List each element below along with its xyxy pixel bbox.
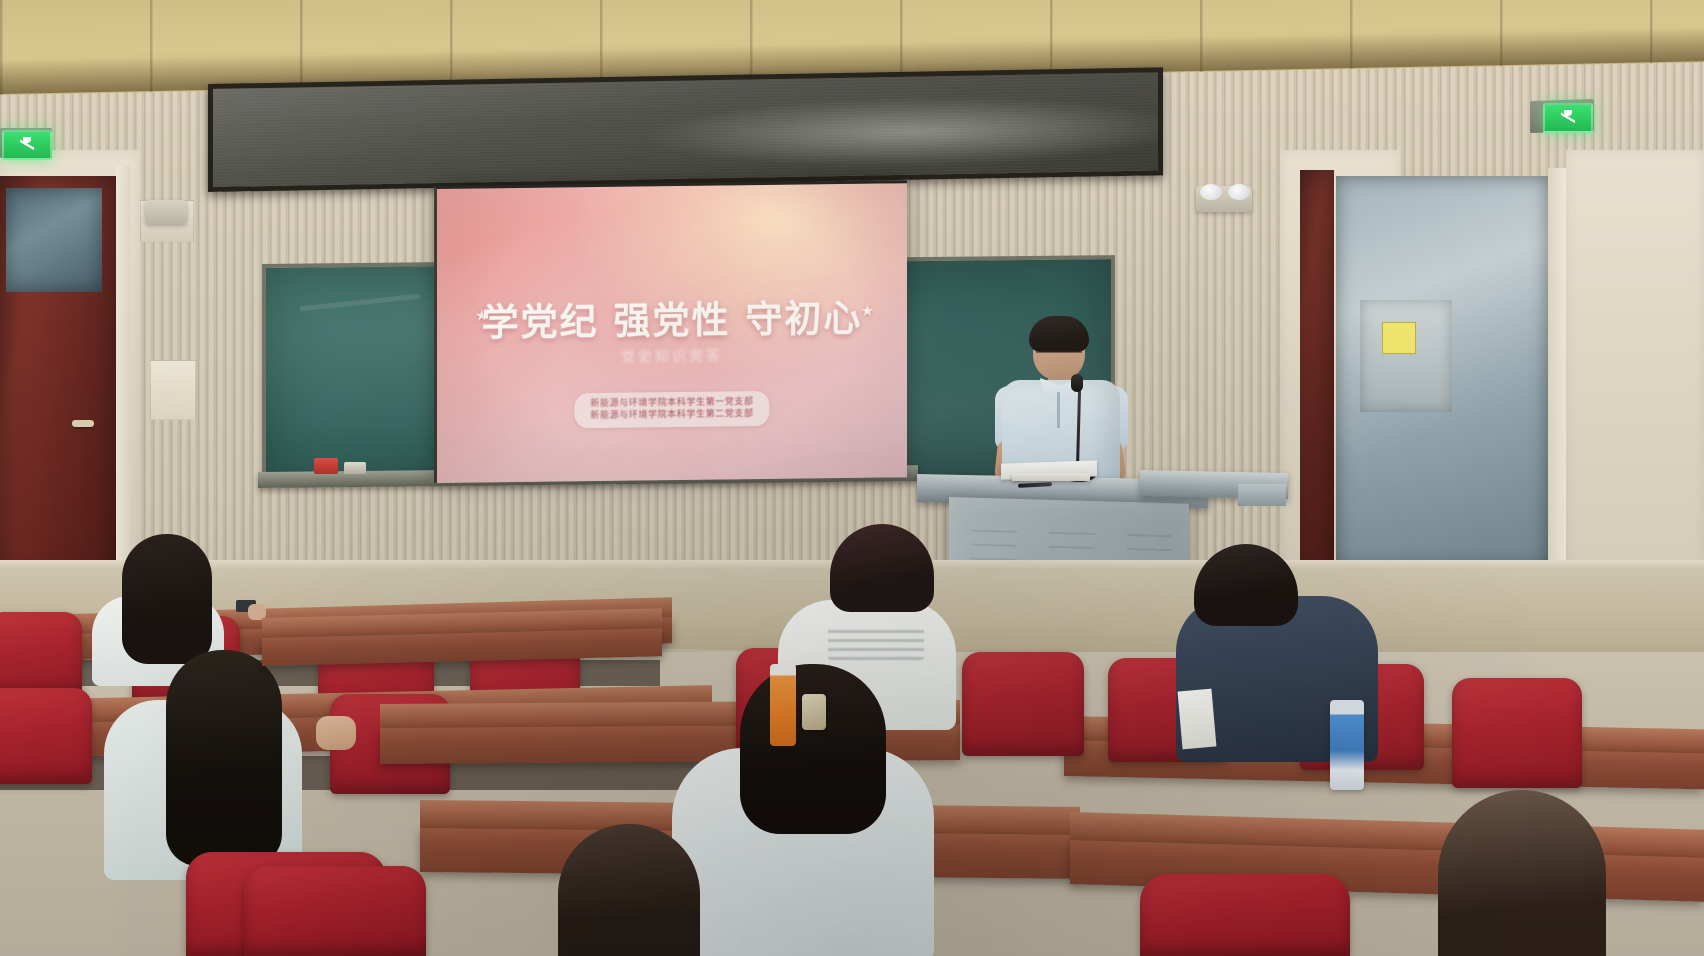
presenter-shirt-placket [1057, 392, 1060, 428]
ceiling-lamp-b [1228, 184, 1250, 200]
projection-screen: ★·· 学党纪 强党性 守初心 ··★ 党史知识竞答 新能源与环境学院本科学生第… [434, 180, 907, 483]
led-banner-display [208, 67, 1163, 192]
student-5-paper [1178, 689, 1217, 750]
seat-r1-c1 [0, 612, 82, 698]
far-right-wall-panel [1566, 150, 1704, 580]
left-wall-notice [150, 360, 196, 420]
door-right-frame [1548, 168, 1566, 572]
seat-front-center [244, 866, 426, 956]
ceiling-lamp-a [1200, 184, 1222, 200]
student-6-hair [558, 824, 700, 956]
presenter-glasses [1036, 351, 1082, 361]
slide-subtitle: 党史知识竞答 [437, 343, 907, 369]
student-4-hair-clip-icon [802, 694, 826, 730]
led-banner-text [213, 72, 1158, 186]
lecture-hall-photo: ★·· 学党纪 强党性 守初心 ··★ 党史知识竞答 新能源与环境学院本科学生第… [0, 0, 1704, 956]
door-right [1300, 170, 1334, 590]
water-bottle-orange [770, 664, 796, 746]
chalk-smudge-3 [1180, 400, 1186, 434]
slide-badge-line-2: 新能源与环境学院本科学生第二党支部 [590, 408, 753, 422]
student-7-hair [1438, 790, 1606, 956]
right-room-sign [1382, 322, 1416, 354]
microphone-head-icon [1071, 374, 1083, 392]
student-3-tee-print [828, 628, 924, 660]
seat-center-b [962, 652, 1084, 756]
right-room-cabinet [1360, 300, 1452, 412]
running-person-icon [20, 137, 34, 153]
eraser [344, 462, 366, 474]
student-2-hair [166, 650, 282, 866]
water-bottle-blue [1330, 700, 1364, 790]
chalk-box-red [314, 458, 338, 474]
slide-organizer-badge: 新能源与环境学院本科学生第一党支部 新能源与环境学院本科学生第二党支部 [574, 391, 769, 428]
ceiling-speaker-left [145, 200, 187, 224]
exit-sign-left [2, 130, 52, 160]
seat-r2-c1 [0, 688, 92, 784]
seat-right-b [1452, 678, 1582, 788]
student-2-hand [316, 716, 356, 750]
slide-stars-right: ··★ [845, 302, 877, 320]
student-4-hair [740, 664, 886, 834]
student-1-hair [122, 534, 212, 664]
side-equipment-unit [1238, 484, 1286, 506]
presenter-notebook [1012, 473, 1090, 481]
door-left-frame [116, 166, 130, 582]
seat-front-right [1140, 874, 1350, 956]
slide-title: 学党纪 强党性 守初心 [437, 287, 907, 347]
door-left-handle [72, 420, 94, 427]
running-person-icon [1561, 110, 1575, 126]
door-left-window [6, 188, 102, 292]
presenter-hair [1029, 316, 1089, 352]
exit-sign-right [1543, 103, 1593, 133]
